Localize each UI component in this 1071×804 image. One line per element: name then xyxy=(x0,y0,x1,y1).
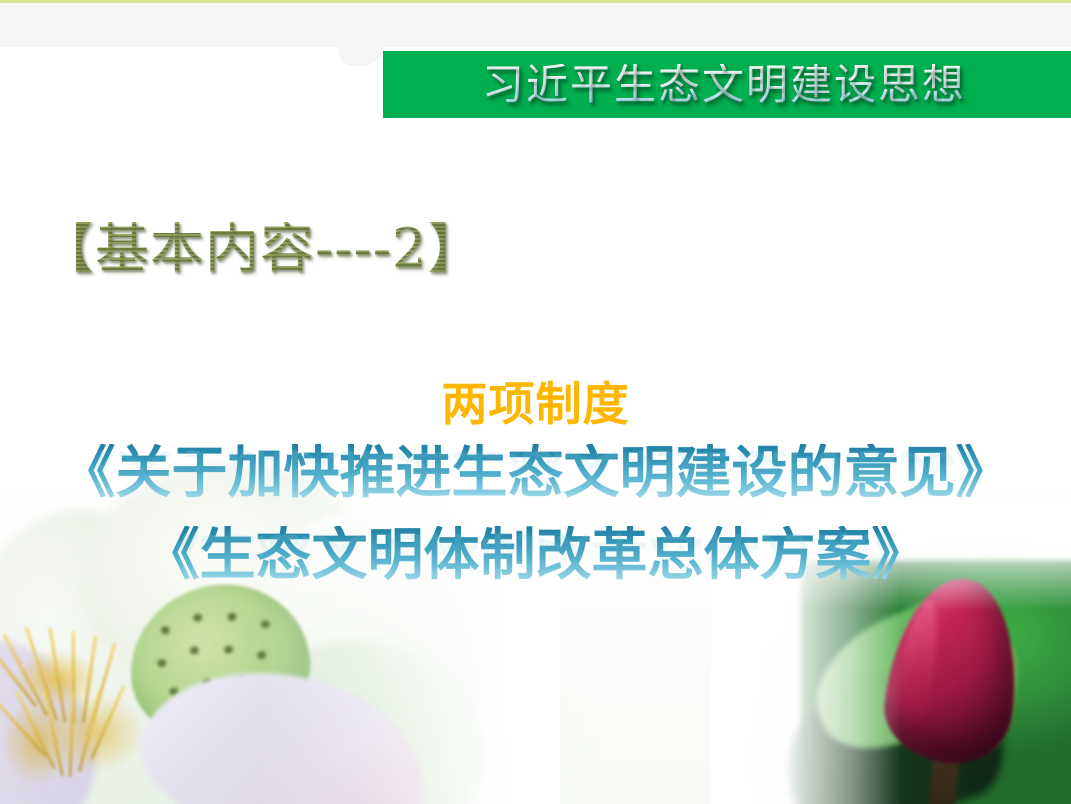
document-title-1-text: 《关于加快推进生态文明建设的意见》 xyxy=(60,441,1012,506)
lotus-petal-lower-right xyxy=(226,596,523,804)
document-title-2: 《生态文明体制改革总体方案》 《生态文明体制改革总体方案》 xyxy=(0,526,1071,586)
section-title: 【基本内容----2】 xyxy=(40,222,482,276)
rose-sepal xyxy=(966,637,1028,753)
top-gray-band xyxy=(0,3,1071,47)
lotus-petal-far-left xyxy=(0,617,122,804)
lotus-stamens xyxy=(0,625,180,804)
lotus-petal-front-bottom xyxy=(121,638,448,804)
rose-bud-highlight xyxy=(889,598,945,732)
rose-leaf-highlight xyxy=(794,591,998,770)
document-title-2-text: 《生态文明体制改革总体方案》 xyxy=(144,523,928,588)
rose-leaf-shadow xyxy=(763,640,1019,804)
body-heading: 两项制度 xyxy=(0,380,1071,430)
document-title-1: 《关于加快推进生态文明建设的意见》 《关于加快推进生态文明建设的意见》 xyxy=(0,444,1071,504)
slide-canvas: 习近平生态文明建设思想 【基本内容----2】 两项制度 《关于加快推进生态文明… xyxy=(0,0,1071,804)
header-banner: 习近平生态文明建设思想 xyxy=(383,51,1071,118)
body-text-block: 两项制度 《关于加快推进生态文明建设的意见》 《关于加快推进生态文明建设的意见》… xyxy=(0,380,1071,609)
top-gray-band-corner-step xyxy=(352,44,384,57)
rose-stem xyxy=(927,739,961,804)
header-title: 习近平生态文明建设思想 xyxy=(482,64,972,106)
